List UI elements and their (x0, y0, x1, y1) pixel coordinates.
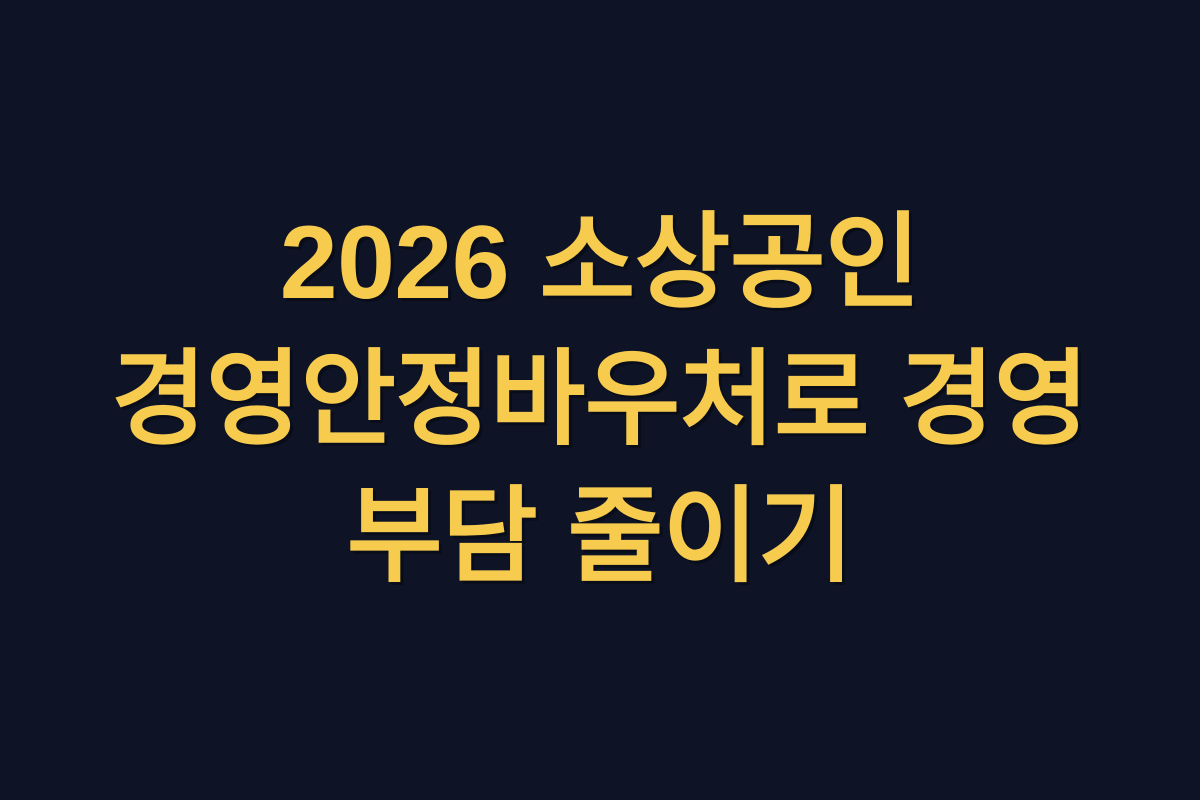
headline-line-2: 경영안정바우처로 경영 (23, 332, 1177, 469)
headline-line-1: 2026 소상공인 (20, 195, 1180, 332)
banner-headline: 2026 소상공인 경영안정바우처로 경영 부담 줄이기 (20, 195, 1180, 606)
headline-line-3: 부담 줄이기 (20, 469, 1180, 606)
banner-canvas: 2026 소상공인 경영안정바우처로 경영 부담 줄이기 (0, 0, 1200, 800)
